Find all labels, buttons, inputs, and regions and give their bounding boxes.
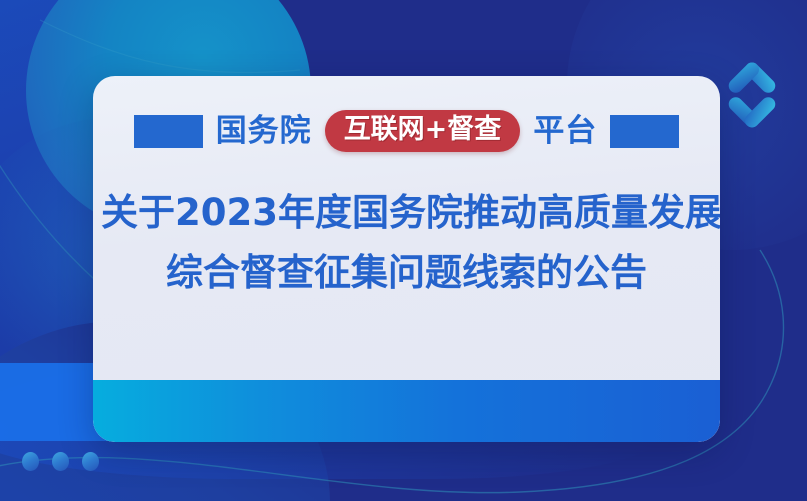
dot-2-icon: [52, 452, 69, 471]
brand-bar: 国务院 互联网+督查 平台: [134, 111, 680, 151]
brand-badge-label: 互联网+督查: [344, 116, 502, 144]
brand-badge: 互联网+督查: [325, 110, 521, 152]
brand-right-block: [610, 115, 679, 148]
brand-org-name: 国务院: [216, 116, 312, 147]
dot-3-icon: [82, 452, 99, 471]
announcement-title-line-2: 综合督查征集问题线索的公告: [101, 243, 712, 303]
announcement-poster: 国务院 互联网+督查 平台 关于2023年度国务院推动高质量发展 综合督查征集问…: [0, 0, 807, 501]
brand-left-block: [134, 115, 203, 148]
diamond-logo-icon: [715, 58, 789, 132]
decorative-dots: [22, 452, 99, 471]
card-body: 国务院 互联网+督查 平台 关于2023年度国务院推动高质量发展 综合督查征集问…: [93, 76, 720, 380]
dot-1-icon: [22, 452, 39, 471]
announcement-card: 国务院 互联网+督查 平台 关于2023年度国务院推动高质量发展 综合督查征集问…: [93, 76, 720, 442]
announcement-title: 关于2023年度国务院推动高质量发展 综合督查征集问题线索的公告: [93, 183, 720, 303]
announcement-title-line-1: 关于2023年度国务院推动高质量发展: [101, 183, 712, 243]
card-footer-bar: [93, 380, 720, 442]
brand-platform-word: 平台: [533, 116, 597, 147]
